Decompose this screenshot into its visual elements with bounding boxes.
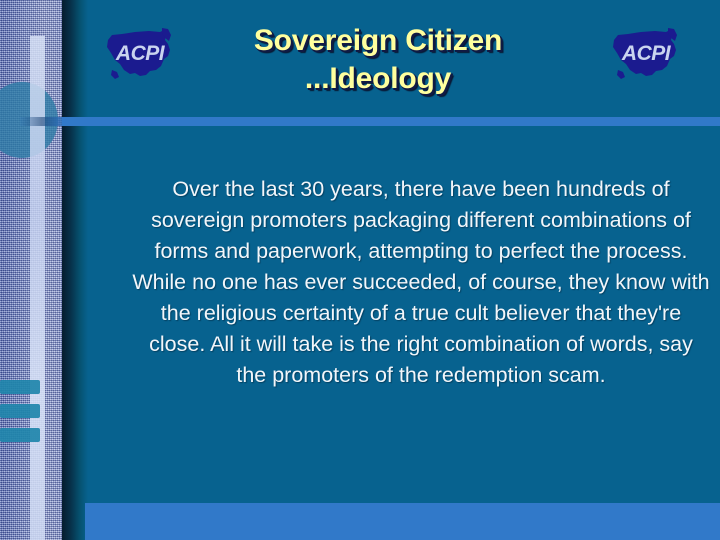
acpi-logo-left: ACPI xyxy=(102,26,180,88)
decorative-sidebar xyxy=(0,0,62,540)
sidebar-accent-bar-2 xyxy=(0,404,40,418)
title-line-2: ...Ideology xyxy=(178,60,578,98)
acpi-logo-right: ACPI xyxy=(608,26,686,88)
acpi-wordmark: ACPI xyxy=(115,42,166,65)
slide-body: Over the last 30 years, there have been … xyxy=(132,152,710,412)
footer-accent-bar xyxy=(85,503,720,540)
sidebar-accent-bar-3 xyxy=(0,428,40,442)
svg-text:ACPI: ACPI xyxy=(621,42,672,65)
acpi-wordmark: ACPI xyxy=(621,42,672,65)
slide-title: Sovereign Citizen ...Ideology xyxy=(178,22,578,98)
title-divider-tail xyxy=(20,117,68,126)
sidebar-gradient-edge xyxy=(62,0,88,540)
title-line-1: Sovereign Citizen xyxy=(178,22,578,60)
title-divider-bar xyxy=(62,117,720,126)
body-paragraph: Over the last 30 years, there have been … xyxy=(132,174,710,391)
sidebar-accent-bar-1 xyxy=(0,380,40,394)
sidebar-light-stripe xyxy=(30,36,45,540)
presentation-slide: ACPI ACPI Sovereign Citizen ...Ideology … xyxy=(0,0,720,540)
svg-text:ACPI: ACPI xyxy=(115,42,166,65)
